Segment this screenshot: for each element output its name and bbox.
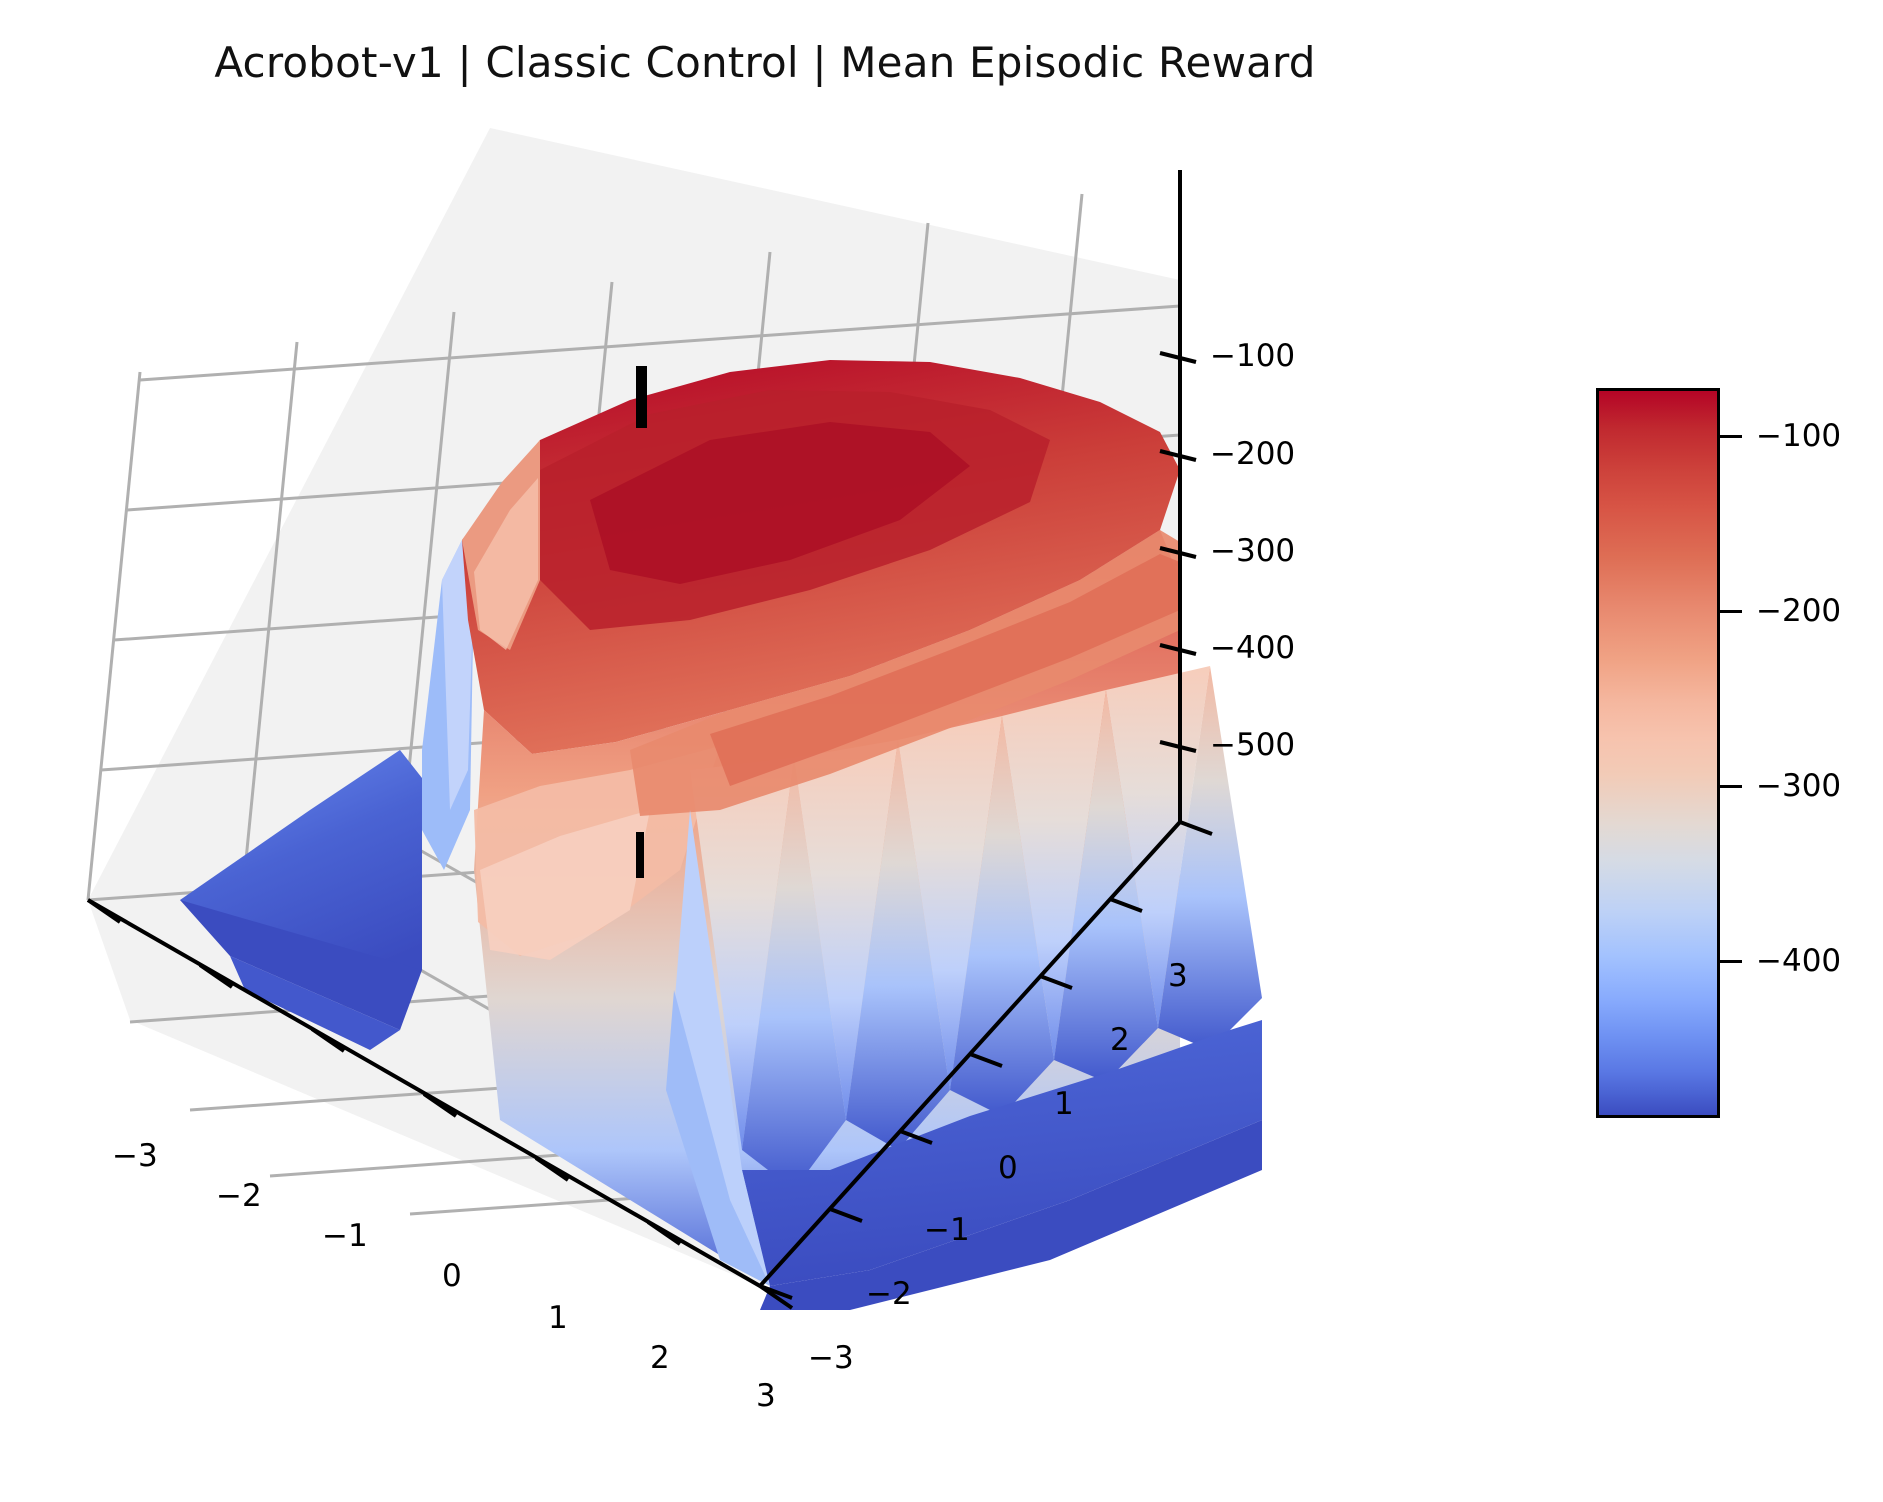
x-tick-label-3: 0 [442,1258,462,1294]
y-tick-label-m2: −2 [866,1276,912,1312]
x-tick-label-0: −3 [112,1138,158,1174]
z-tick-label-m200: −200 [1210,436,1295,472]
colorbar-label-m200: −200 [1756,593,1841,629]
peak-marker-icon [636,366,647,428]
y-tick-label-3: 3 [1168,958,1188,994]
z-tick-label-m300: −300 [1210,533,1295,569]
figure-canvas: Acrobot-v1 | Classic Control | Mean Epis… [0,0,1883,1502]
y-tick-label-m3: −3 [808,1340,854,1376]
colorbar-tick-1 [1720,610,1742,613]
surface-plot-3d-axes[interactable]: −3 −2 −1 0 1 2 3 3 2 1 0 −1 −2 −3 −100 −… [70,110,1270,1340]
y-tick-label-1: 1 [1054,1086,1074,1122]
z-tick-label-m400: −400 [1210,630,1295,666]
colorbar-gradient [1596,388,1720,1118]
surface-plot-svg [70,110,1270,1340]
y-tick-label-m1: −1 [924,1212,970,1248]
x-tick-label-2: −1 [322,1218,368,1254]
x-tick-label-5: 2 [650,1340,670,1376]
colorbar-label-m100: −100 [1756,418,1841,454]
colorbar-tick-2 [1720,785,1742,788]
colorbar-tick-3 [1720,960,1742,963]
colorbar-tick-0 [1720,435,1742,438]
colorbar-label-m400: −400 [1756,943,1841,979]
y-tick-label-0: 0 [998,1150,1018,1186]
secondary-marker-visible-icon [636,832,644,878]
x-tick-label-6: 3 [756,1378,776,1414]
chart-title: Acrobot-v1 | Classic Control | Mean Epis… [0,38,1530,87]
y-tick-label-2: 2 [1110,1022,1130,1058]
colorbar[interactable]: −100 −200 −300 −400 [1596,388,1856,1118]
colorbar-label-m300: −300 [1756,768,1841,804]
x-tick-label-1: −2 [216,1178,262,1214]
z-tick-label-m500: −500 [1210,727,1295,763]
x-tick-label-4: 1 [548,1300,568,1336]
z-tick-label-m100: −100 [1210,338,1295,374]
